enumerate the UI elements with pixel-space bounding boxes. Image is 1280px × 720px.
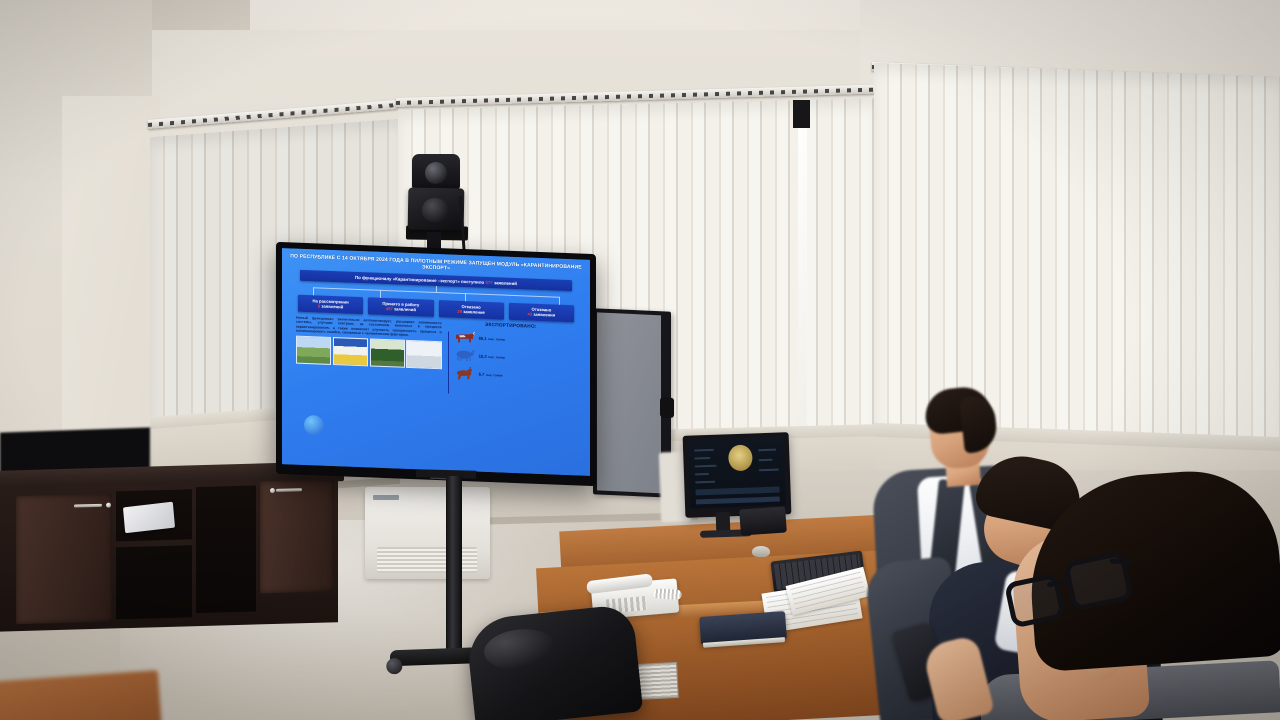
wall-pillar <box>62 96 160 476</box>
fan-coil-unit <box>365 487 490 579</box>
monitor-screen[interactable] <box>688 436 786 508</box>
export-value: 10,3 тыс. голов <box>479 353 505 359</box>
export-value: 5,7 тыс. голов <box>479 371 503 377</box>
vertical-blinds-right[interactable] <box>874 63 1280 447</box>
stat-box-rejected: Отказано 29 заявление <box>439 300 504 319</box>
tv-stand-column <box>446 476 462 658</box>
chair-highlight <box>482 626 558 673</box>
credenza-door-right[interactable] <box>260 479 334 593</box>
ptz-camera-body <box>408 188 465 231</box>
export-row-cattle: 66,1 тыс. голов <box>446 329 576 349</box>
slide-lower-section: Новый функционал значительно автоматизир… <box>296 315 576 385</box>
credenza-door-left[interactable] <box>16 494 112 625</box>
stat-count: 8 <box>318 304 320 309</box>
mouse[interactable] <box>752 546 770 557</box>
stat-box-pending: На рассмотрении 8 заявлений <box>298 295 363 314</box>
presentation-slide: ПО РЕСПУБЛИКЕ С 14 ОКТЯБРЯ 2024 ГОДА В П… <box>282 248 590 476</box>
stat-unit: заявление <box>463 309 485 315</box>
thumbnail-photo-veterinary <box>370 338 405 367</box>
blind-track-bracket <box>793 100 810 128</box>
cattle-icon <box>453 329 475 345</box>
stat-box-withdrawn: Отозвано 43 заявления <box>509 303 574 322</box>
credenza-body <box>0 477 338 632</box>
thumbnail-photo-facility <box>406 340 441 369</box>
thumbnail-photo-document <box>333 337 368 366</box>
credenza-open-shelf-2 <box>196 485 256 613</box>
horse-icon <box>453 365 475 381</box>
export-row-sheep: 10,3 тыс. голов <box>446 347 576 367</box>
whiteboard-surface <box>597 312 661 493</box>
state-emblem-icon <box>728 444 753 471</box>
export-row-horse: 5,7 тыс. голов <box>446 365 576 385</box>
blind-light-gap <box>798 112 807 430</box>
stat-count: 29 <box>457 309 462 314</box>
credenza-open-shelf-1 <box>116 489 192 619</box>
stat-unit: заявлений <box>394 307 416 313</box>
thumbnail-photo-pasture <box>296 336 331 365</box>
conference-phone[interactable] <box>739 506 787 535</box>
wall-display: ПО РЕСПУБЛИКЕ С 14 ОКТЯБРЯ 2024 ГОДА В П… <box>276 242 596 486</box>
export-divider <box>448 331 450 393</box>
stat-count: 43 <box>528 312 533 317</box>
banner-count: 577 <box>485 280 492 285</box>
export-value: 66,1 тыс. голов <box>479 335 505 341</box>
camera-objective-icon <box>422 198 448 222</box>
notebook-folder[interactable] <box>699 611 787 645</box>
sheep-icon <box>453 347 475 363</box>
camera-head <box>412 154 460 190</box>
slide-title-line2: ЭКСПОРТ» <box>422 265 450 272</box>
desktop-monitor[interactable] <box>683 432 792 518</box>
slide-thumbnail-strip <box>296 336 442 370</box>
hvac-badge <box>373 495 399 500</box>
banner-suffix: заявлений <box>494 280 517 286</box>
stat-box-accepted: Принято в работу 497 заявлений <box>368 297 433 316</box>
globe-graphic-icon <box>304 415 324 436</box>
stat-unit: заявлений <box>321 304 343 310</box>
stat-unit: заявления <box>533 312 555 318</box>
conference-room-screenshot: ПО РЕСПУБЛИКЕ С 14 ОКТЯБРЯ 2024 ГОДА В П… <box>0 0 1280 720</box>
slide-text-column: Новый функционал значительно автоматизир… <box>296 315 442 380</box>
camera-lens-icon <box>425 162 447 184</box>
hvac-grille <box>377 547 477 573</box>
stat-count: 497 <box>386 306 393 311</box>
phone-cord <box>653 588 681 599</box>
display-screen[interactable]: ПО РЕСПУБЛИКЕ С 14 ОКТЯБРЯ 2024 ГОДА В П… <box>282 248 590 476</box>
whiteboard-clip <box>660 397 674 418</box>
slide-export-column: ЭКСПОРТИРОВАНО: <box>446 321 576 385</box>
